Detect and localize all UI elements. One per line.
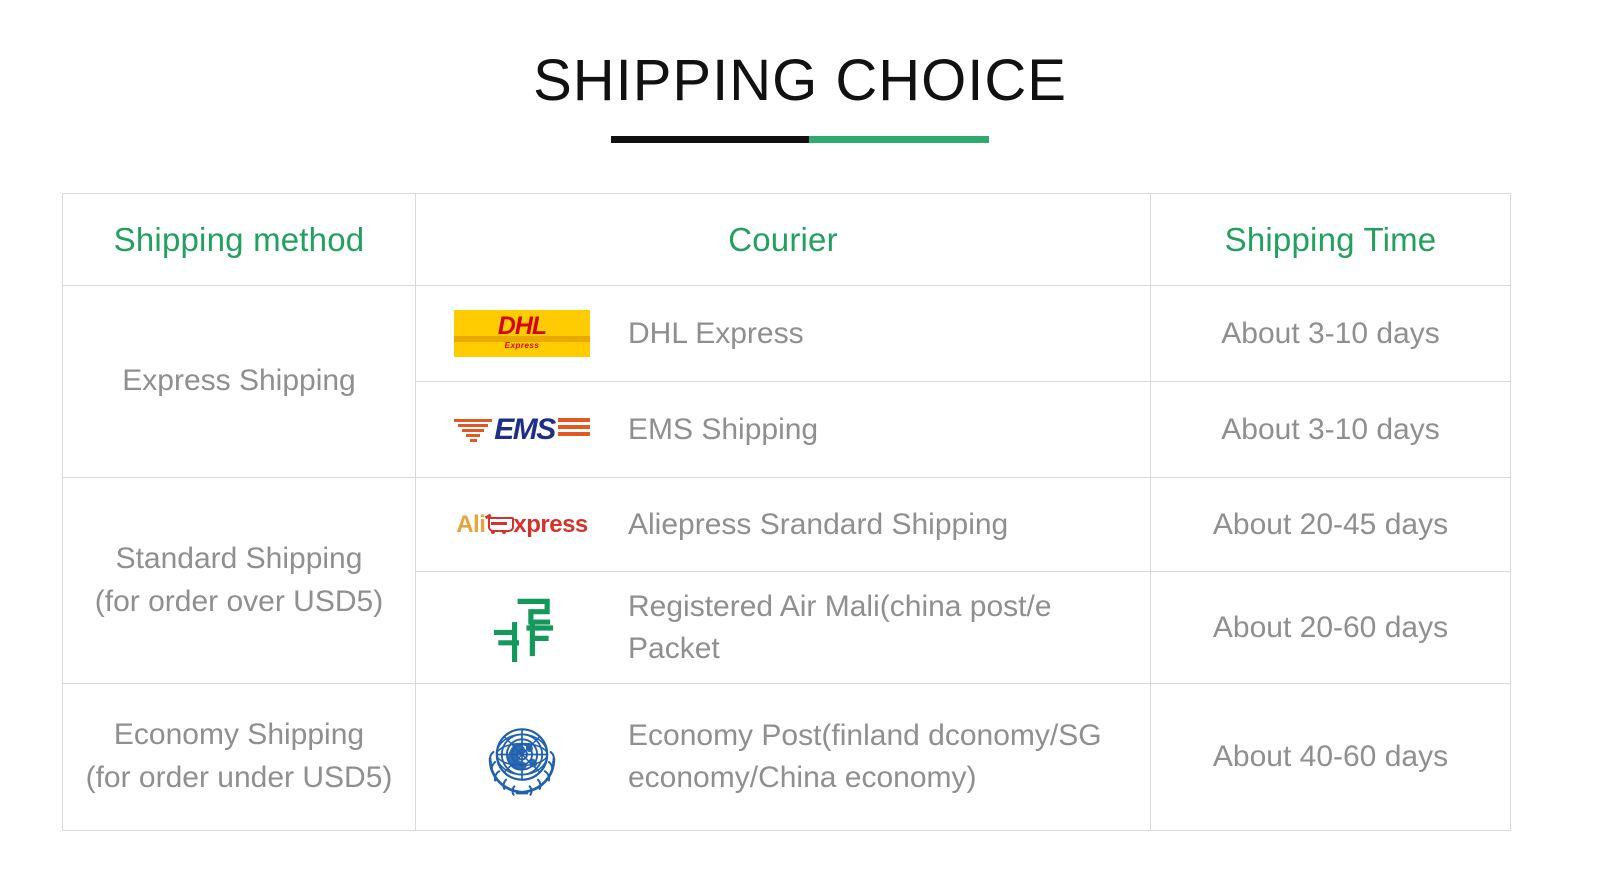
method-cell-standard: Standard Shipping (for order over USD5) [63,478,416,684]
page-title: SHIPPING CHOICE [0,52,1600,110]
ems-logo-right-stripes [558,418,590,442]
ems-logo: EMS [446,408,598,452]
courier-label: Aliepress Srandard Shipping [628,504,1150,546]
method-note: (for order under USD5) [63,757,415,800]
shipping-time-cell: About 20-60 days [1151,572,1511,684]
china-post-logo [485,591,559,665]
dhl-logo-wordmark: DHL [498,314,546,339]
courier-cell-aliexpress: Ali xpress Alie [416,478,1151,572]
title-underline [611,136,989,143]
method-cell-express: Express Shipping [63,286,416,478]
column-header-courier: Courier [416,194,1151,286]
aliexpress-logo: Ali xpress [456,513,588,537]
method-label: Express Shipping [122,364,355,397]
courier-label: EMS Shipping [628,409,1150,451]
united-nations-logo [480,715,564,799]
method-cell-economy: Economy Shipping (for order under USD5) [63,684,416,831]
ems-logo-wordmark: EMS [494,415,555,445]
logo-slot: EMS [416,408,628,452]
courier-label: Registered Air Mali(china post/e Packet [628,586,1150,670]
table-row: Standard Shipping (for order over USD5) … [63,478,1511,572]
dhl-logo: DHL Express [454,310,590,357]
courier-label: Economy Post(finland dconomy/SG economy/… [628,715,1150,799]
table-header-row: Shipping method Courier Shipping Time [63,194,1511,286]
shipping-time-cell: About 20-45 days [1151,478,1511,572]
courier-cell-united-nations: Economy Post(finland dconomy/SG economy/… [416,684,1151,831]
table-row: Express Shipping DHL Express DHL Express [63,286,1511,382]
title-underline-dark-segment [611,136,809,143]
shipping-choice-table: Shipping method Courier Shipping Time Ex… [62,193,1511,831]
logo-slot [416,715,628,799]
column-header-shipping-method: Shipping method [63,194,416,286]
shipping-time-cell: About 40-60 days [1151,684,1511,831]
courier-cell-dhl: DHL Express DHL Express [416,286,1151,382]
ems-logo-left-stripes [454,417,492,442]
shipping-time-cell: About 3-10 days [1151,286,1511,382]
courier-cell-china-post: Registered Air Mali(china post/e Packet [416,572,1151,684]
dhl-logo-subtext: Express [505,342,540,350]
column-header-shipping-time: Shipping Time [1151,194,1511,286]
logo-slot: DHL Express [416,310,628,357]
logo-slot [416,591,628,665]
method-note: (for order over USD5) [63,581,415,624]
courier-label: DHL Express [628,313,1150,355]
page-header: SHIPPING CHOICE [0,0,1600,143]
logo-slot: Ali xpress [416,513,628,537]
table-row: Economy Shipping (for order under USD5) [63,684,1511,831]
method-label: Economy Shipping [114,718,364,751]
aliexpress-logo-xpress-text: xpress [513,513,587,537]
shipping-table-container: Shipping method Courier Shipping Time Ex… [62,193,1510,831]
title-underline-accent-segment [809,136,989,143]
shipping-time-cell: About 3-10 days [1151,382,1511,478]
courier-cell-ems: EMS EMS Shipping [416,382,1151,478]
aliexpress-logo-ali-text: Ali [456,513,485,537]
method-label: Standard Shipping [116,542,363,575]
shopping-cart-icon [486,515,512,534]
